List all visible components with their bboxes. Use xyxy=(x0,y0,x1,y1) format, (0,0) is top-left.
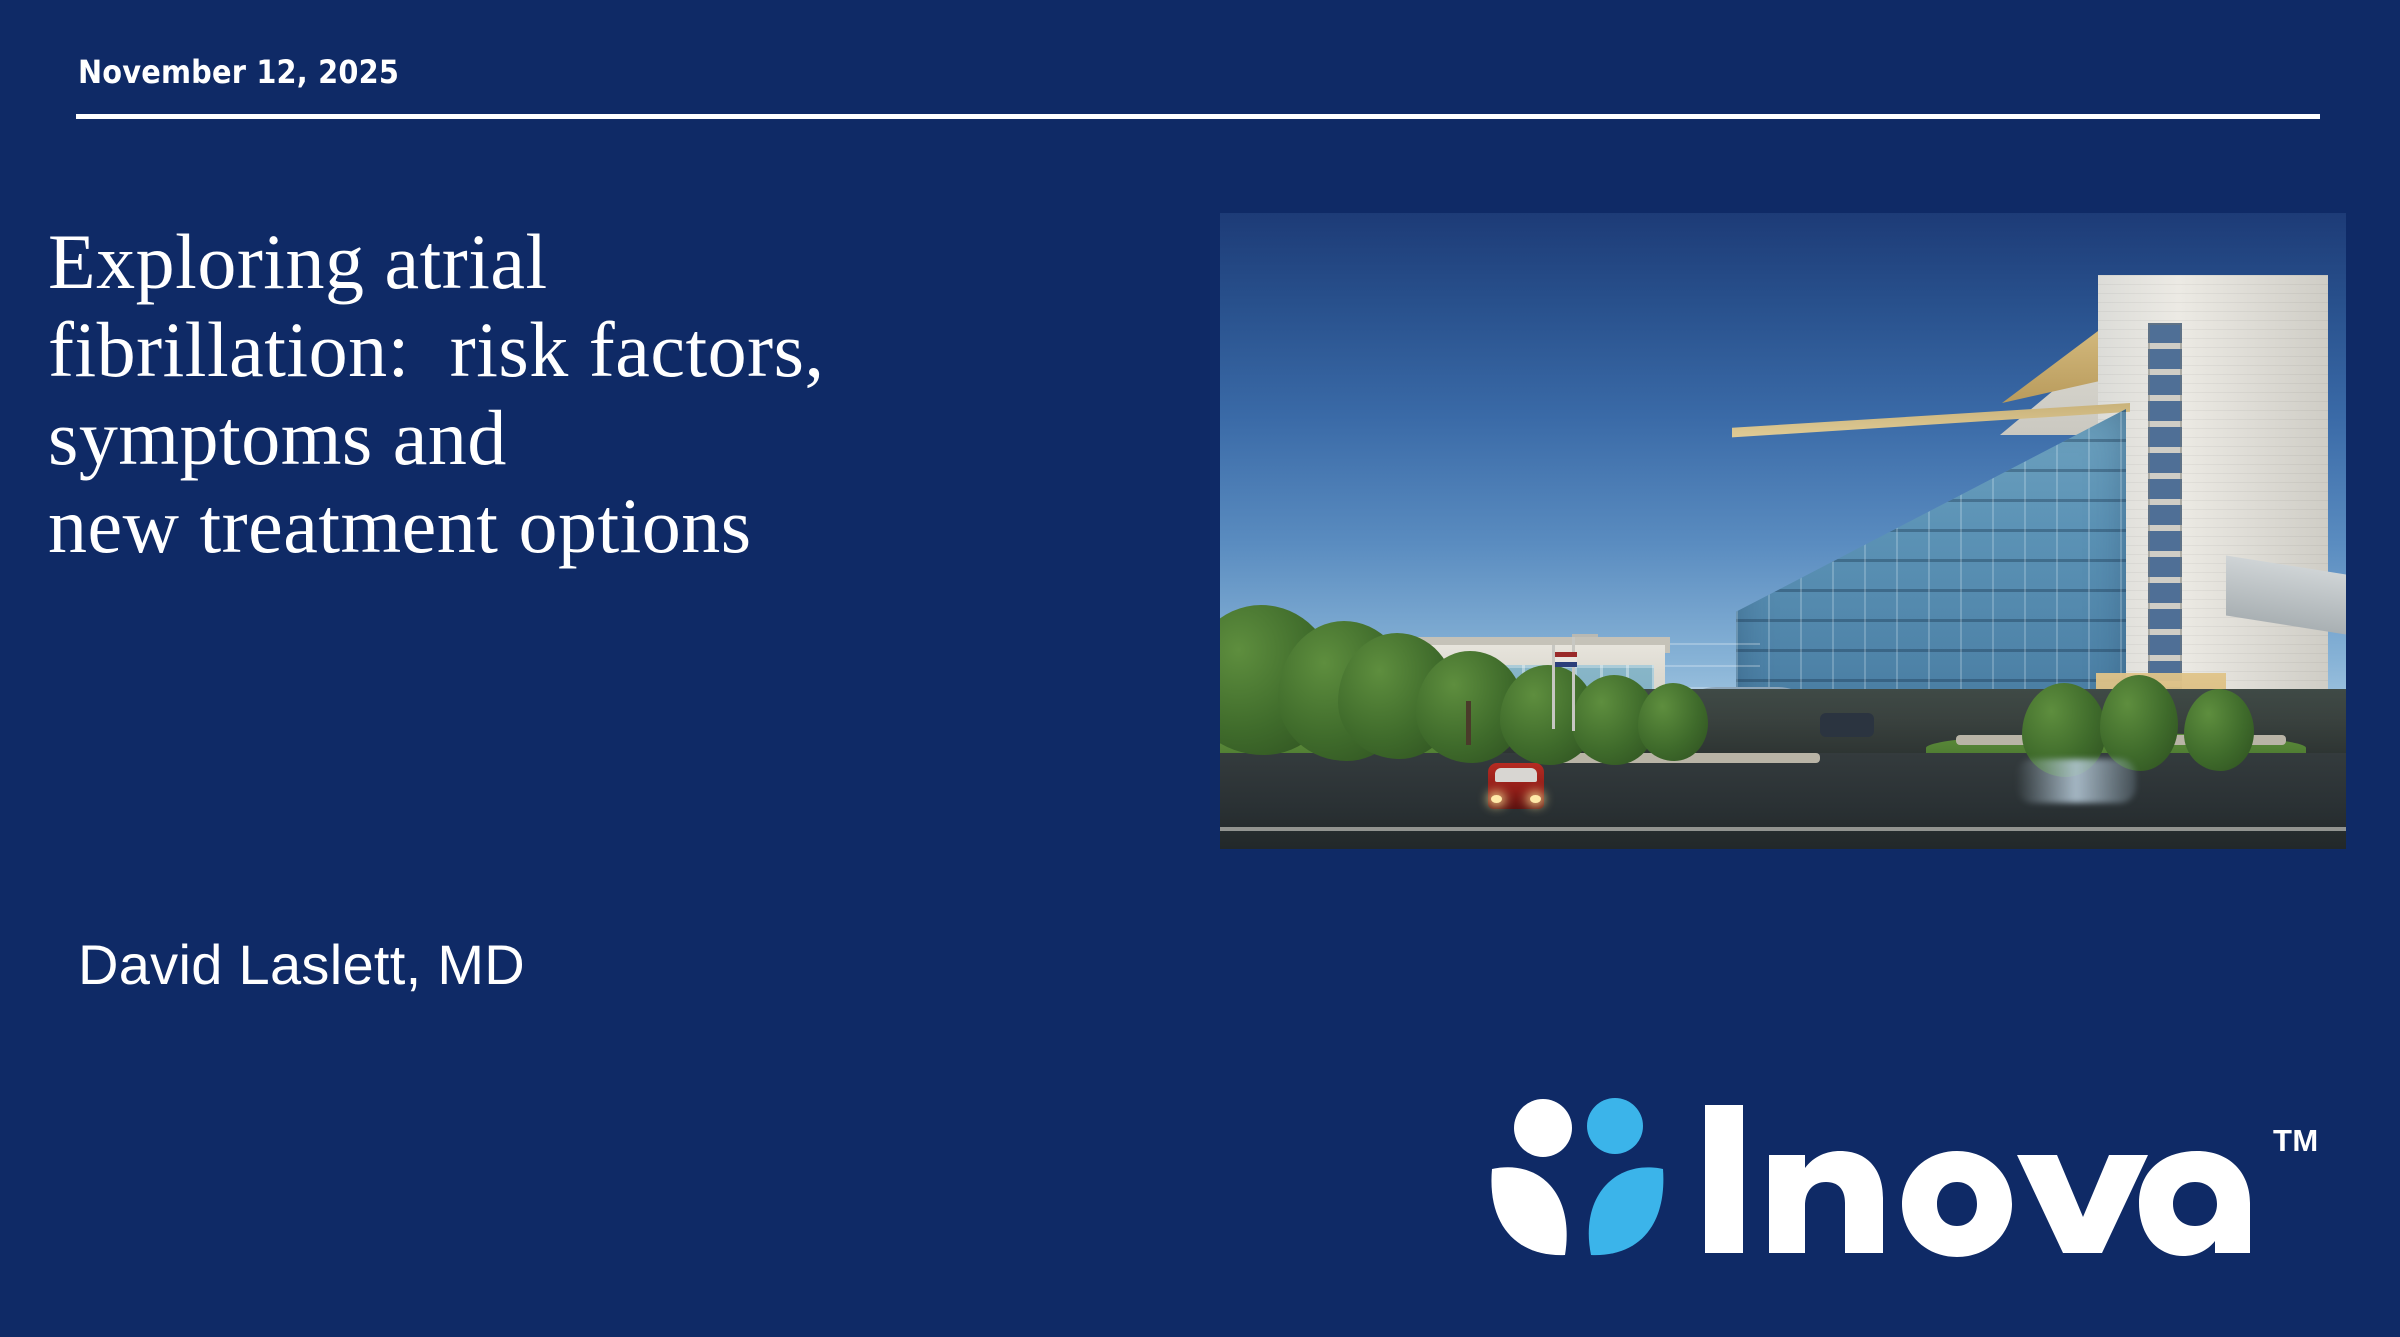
presenter-name: David Laslett, MD xyxy=(78,932,525,997)
inova-wordmark xyxy=(1699,1093,2299,1263)
trademark-symbol: TM xyxy=(2273,1123,2319,1159)
header-divider xyxy=(76,114,2320,119)
title-line-1: Exploring atrial xyxy=(48,218,1178,306)
inova-people-mark-icon xyxy=(1487,1097,1665,1257)
hospital-photo xyxy=(1220,213,2346,849)
slide-date: November 12, 2025 xyxy=(78,53,399,91)
light-pole xyxy=(1572,635,1575,731)
page-title: Exploring atrial fibrillation: risk fact… xyxy=(48,218,1178,571)
tree xyxy=(2100,675,2178,771)
photo-road xyxy=(1220,753,2346,849)
headlight xyxy=(1491,795,1502,803)
inova-logo: TM xyxy=(1487,1093,2327,1263)
tree-trunk xyxy=(1466,701,1471,745)
tower-window-strip xyxy=(2148,323,2182,713)
tree xyxy=(1638,683,1708,761)
moving-car-blur xyxy=(2016,759,2136,803)
title-line-3: symptoms and xyxy=(48,394,1178,482)
parked-car xyxy=(1820,713,1874,737)
title-line-4: new treatment options xyxy=(48,482,1178,570)
light-pole-arm xyxy=(1572,634,1598,637)
red-car xyxy=(1488,763,1544,809)
tree xyxy=(2184,689,2254,771)
title-slide: November 12, 2025 Exploring atrial fibri… xyxy=(0,0,2400,1337)
title-line-2: fibrillation: risk factors, xyxy=(48,306,1178,394)
road-marking xyxy=(1220,827,2346,831)
flag xyxy=(1555,652,1577,667)
headlight xyxy=(1530,795,1541,803)
